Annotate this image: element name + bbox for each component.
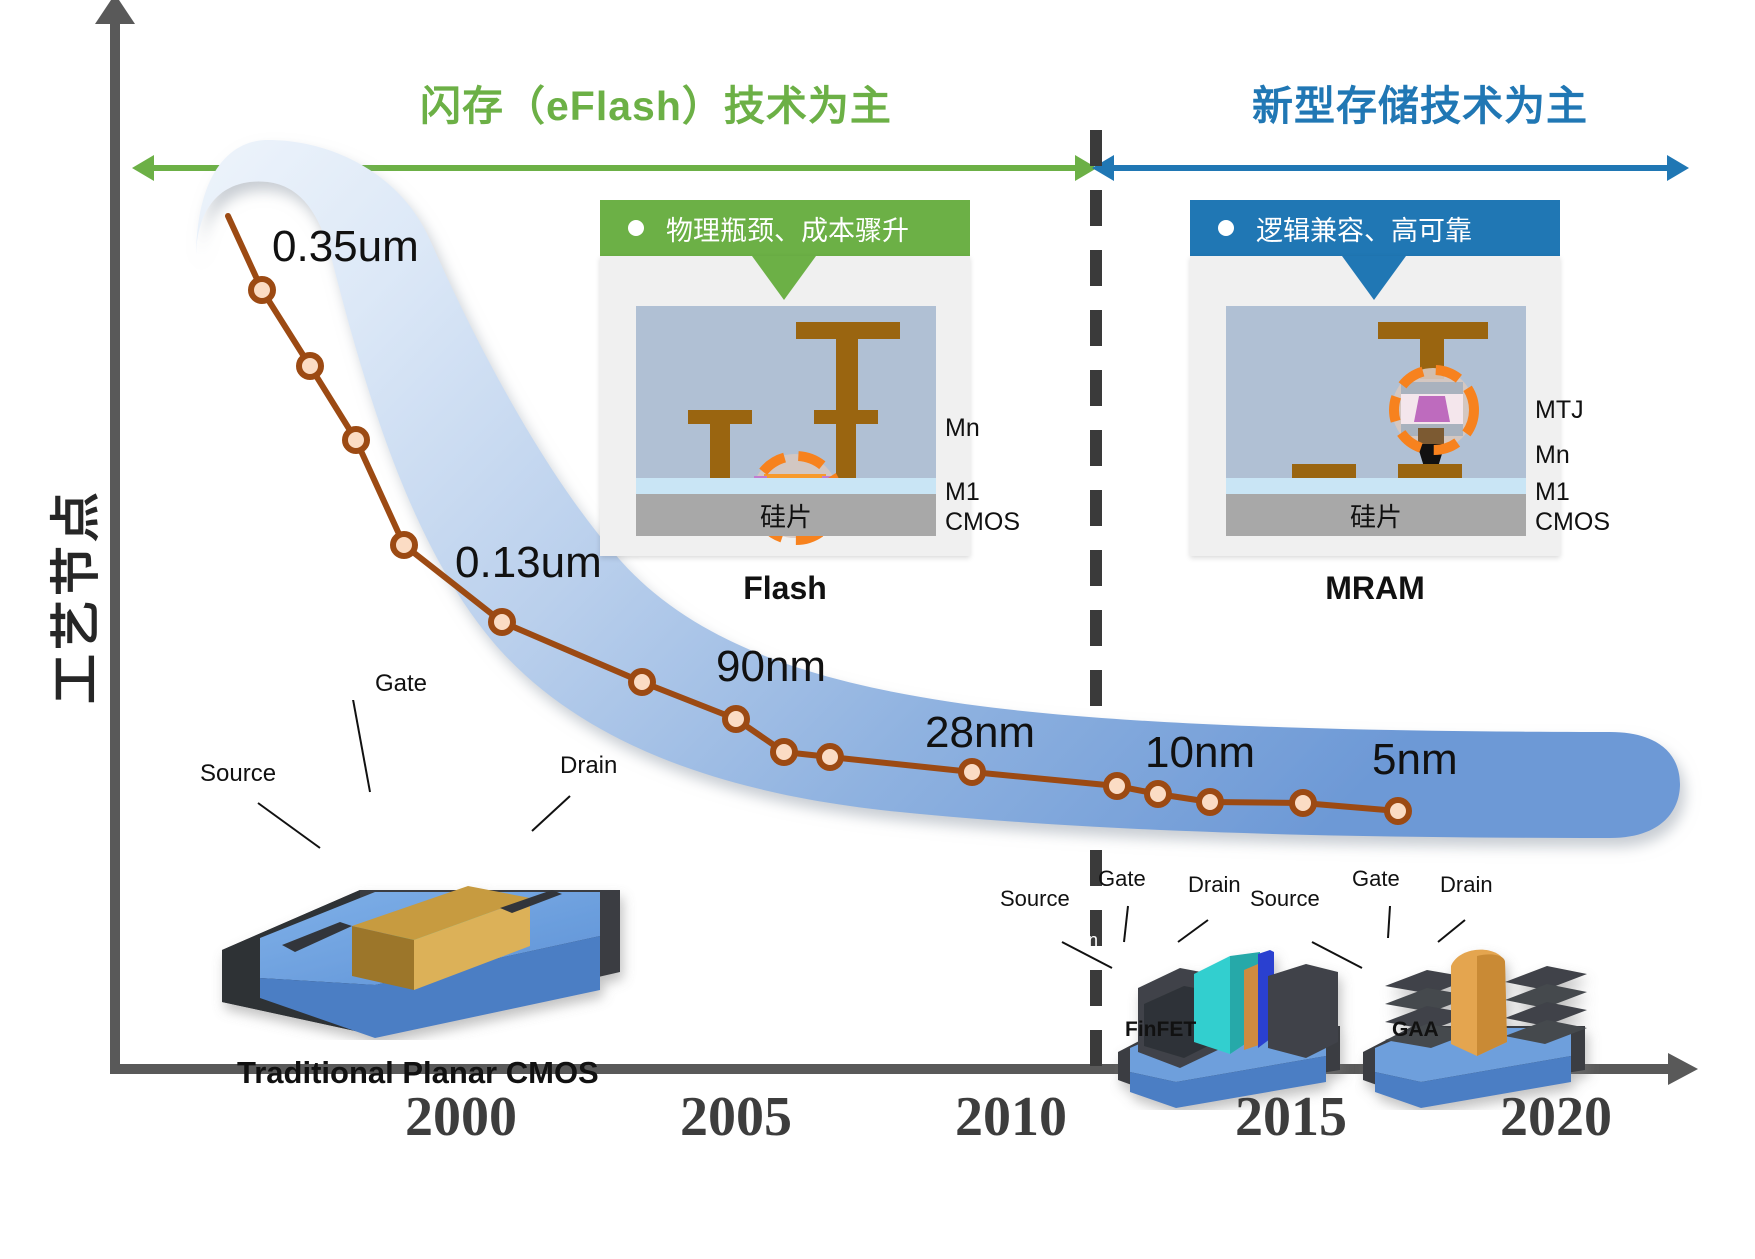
mram-metal-right-top: [1398, 464, 1462, 478]
planar-gate-label: Gate: [375, 670, 427, 698]
gaa-gate-label: Gate: [1352, 866, 1400, 892]
flash-header-text: 物理瓶颈、成本骤升: [666, 209, 909, 248]
mram-label-mn: Mn: [1535, 441, 1570, 470]
x-tick-2015: 2015: [1235, 1085, 1347, 1149]
mram-panel-caption: MRAM: [1190, 570, 1560, 607]
mram-label-cmos: CMOS: [1535, 508, 1610, 537]
flash-panel-group: 物理瓶颈、成本骤升: [600, 200, 970, 607]
flash-metal-right-top: [814, 410, 878, 424]
mram-panel-body: 硅片 MTJ Mn M1 CMOS: [1190, 256, 1560, 556]
x-tick-2005: 2005: [680, 1085, 792, 1149]
node-label-1: 0.13um: [455, 538, 602, 588]
gaa-caption: GAA: [1392, 1018, 1439, 1042]
node-label-5: 5nm: [1372, 735, 1458, 785]
gaa-source-label: Source: [1250, 886, 1320, 912]
finfet-gate-label: Gate: [1098, 866, 1146, 892]
finfet-fin-label-left: Fin: [1073, 930, 1098, 951]
flash-label-m1: M1: [945, 478, 980, 507]
flash-via-left: [710, 424, 730, 482]
mram-header-text: 逻辑兼容、高可靠: [1256, 209, 1472, 248]
mram-label-m1: M1: [1535, 478, 1570, 507]
node-label-4: 10nm: [1145, 728, 1255, 778]
x-tick-2010: 2010: [955, 1085, 1067, 1149]
node-label-0: 0.35um: [272, 222, 419, 272]
mram-substrate-label: 硅片: [1226, 494, 1526, 536]
mram-panel-group: 逻辑兼容、高可靠: [1190, 200, 1560, 607]
flash-label-mn: Mn: [945, 414, 980, 443]
flash-metal-mn-top: [796, 322, 900, 339]
mram-metal-left-top: [1292, 464, 1356, 478]
x-tick-2000: 2000: [405, 1085, 517, 1149]
mram-panel-header: 逻辑兼容、高可靠: [1190, 200, 1560, 256]
mram-substrate-cap: [1226, 478, 1526, 494]
bullet-dot-icon: [1218, 220, 1234, 236]
finfet-fin-label-right: Fin: [1193, 930, 1218, 951]
mram-label-mtj: MTJ: [1535, 396, 1584, 425]
flash-chip-stack: 硅片: [636, 306, 936, 536]
mram-highlight-ring-icon: [1386, 362, 1482, 458]
flash-panel-body: 硅片 Mn M1 CMOS: [600, 256, 970, 556]
flash-down-arrow-icon: [752, 256, 816, 300]
flash-panel-caption: Flash: [600, 570, 970, 607]
flash-panel-header: 物理瓶颈、成本骤升: [600, 200, 970, 256]
planar-source-label: Source: [200, 760, 276, 788]
flash-metal-left-top: [688, 410, 752, 424]
flash-via-mn: [836, 339, 858, 417]
x-tick-2020: 2020: [1500, 1085, 1612, 1149]
node-label-2: 90nm: [716, 642, 826, 692]
flash-substrate-label: 硅片: [636, 494, 936, 536]
finfet-caption: FinFET: [1125, 1018, 1196, 1042]
mram-down-arrow-icon: [1342, 256, 1406, 300]
bullet-dot-icon: [628, 220, 644, 236]
node-label-3: 28nm: [925, 708, 1035, 758]
flash-label-cmos: CMOS: [945, 508, 1020, 537]
mram-chip-stack: 硅片: [1226, 306, 1526, 536]
gaa-drain-label: Drain: [1440, 872, 1493, 898]
planar-leader-lines: [200, 700, 650, 900]
finfet-source-label: Source: [1000, 886, 1070, 912]
mram-metal-top: [1378, 322, 1488, 339]
flash-substrate-cap: [636, 478, 936, 494]
planar-drain-label: Drain: [560, 752, 617, 780]
finfet-drain-label: Drain: [1188, 872, 1241, 898]
